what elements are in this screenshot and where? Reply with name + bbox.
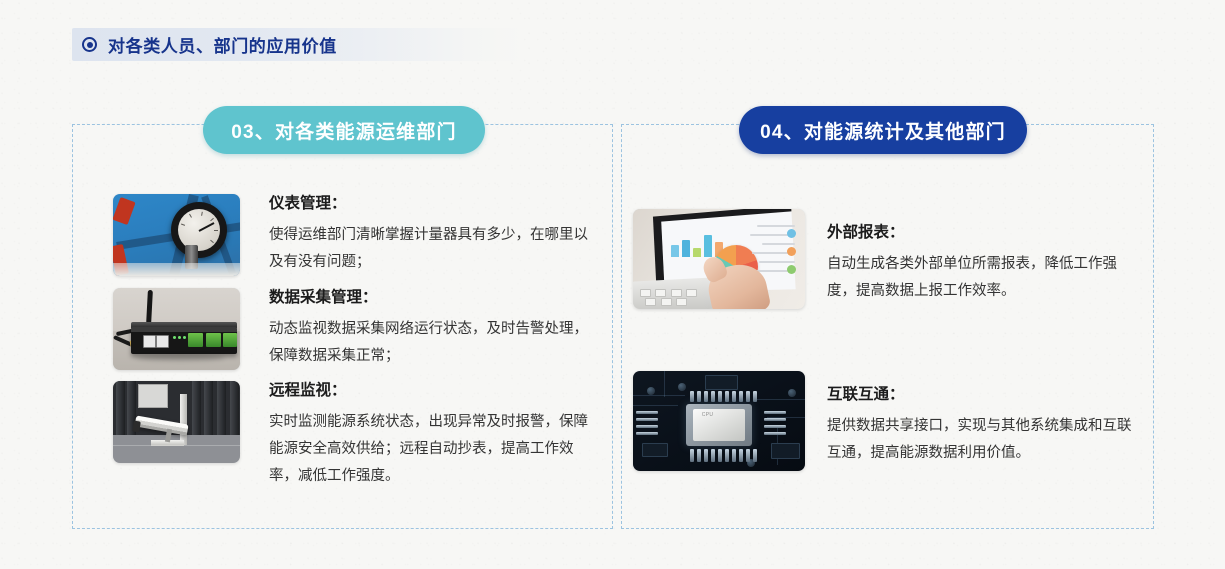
list-item-body: 使得运维部门清晰掌握计量器具有多少，在哪里以及有没有问题；: [269, 222, 593, 276]
list-item-body: 提供数据共享接口，实现与其他系统集成和互联互通，提高能源数据利用价值。: [827, 413, 1133, 467]
page-title: 对各类人员、部门的应用价值: [108, 32, 337, 57]
list-item-body: 动态监视数据采集网络运行状态，及时告警处理，保障数据采集正常；: [269, 316, 593, 370]
panel-03-pill-title: 03、对各类能源运维部门: [203, 106, 485, 154]
laptop-charts-photo: [633, 209, 805, 309]
list-item: 仪表管理： 使得运维部门清晰掌握计量器具有多少，在哪里以及有没有问题；: [113, 194, 593, 276]
list-item-title: 互联互通：: [827, 385, 1133, 404]
list-item-copy: 互联互通： 提供数据共享接口，实现与其他系统集成和互联互通，提高能源数据利用价值…: [827, 371, 1133, 467]
surveillance-camera-photo: [113, 381, 240, 463]
list-item-title: 外部报表：: [827, 223, 1133, 242]
data-acquisition-device-photo: [113, 288, 240, 370]
section-header-bar: 对各类人员、部门的应用价值: [72, 28, 524, 61]
list-item-body: 自动生成各类外部单位所需报表，降低工作强度，提高数据上报工作效率。: [827, 251, 1133, 305]
list-item-copy: 远程监视： 实时监测能源系统状态，出现异常及时报警，保障能源安全高效供给；远程自…: [269, 381, 593, 490]
list-item-title: 数据采集管理：: [269, 288, 593, 307]
list-item-copy: 仪表管理： 使得运维部门清晰掌握计量器具有多少，在哪里以及有没有问题；: [269, 194, 593, 276]
list-item-copy: 数据采集管理： 动态监视数据采集网络运行状态，及时告警处理，保障数据采集正常；: [269, 288, 593, 370]
list-item: 远程监视： 实时监测能源系统状态，出现异常及时报警，保障能源安全高效供给；远程自…: [113, 381, 593, 490]
list-item: 数据采集管理： 动态监视数据采集网络运行状态，及时告警处理，保障数据采集正常；: [113, 288, 593, 370]
list-item-title: 远程监视：: [269, 381, 593, 400]
list-item: 外部报表： 自动生成各类外部单位所需报表，降低工作强度，提高数据上报工作效率。: [633, 209, 1133, 309]
cpu-circuit-board-photo: CPU: [633, 371, 805, 471]
list-item-copy: 外部报表： 自动生成各类外部单位所需报表，降低工作强度，提高数据上报工作效率。: [827, 209, 1133, 305]
list-item: CPU 互联互通： 提供数据共享接口，实现与其他系统集成和互联互通，提高能源数据…: [633, 371, 1133, 471]
panel-04-pill-title: 04、对能源统计及其他部门: [739, 106, 1027, 154]
pressure-gauge-photo: [113, 194, 240, 276]
list-item-title: 仪表管理：: [269, 194, 593, 213]
target-ring-icon: [82, 37, 97, 52]
list-item-body: 实时监测能源系统状态，出现异常及时报警，保障能源安全高效供给；远程自动抄表，提高…: [269, 409, 593, 489]
